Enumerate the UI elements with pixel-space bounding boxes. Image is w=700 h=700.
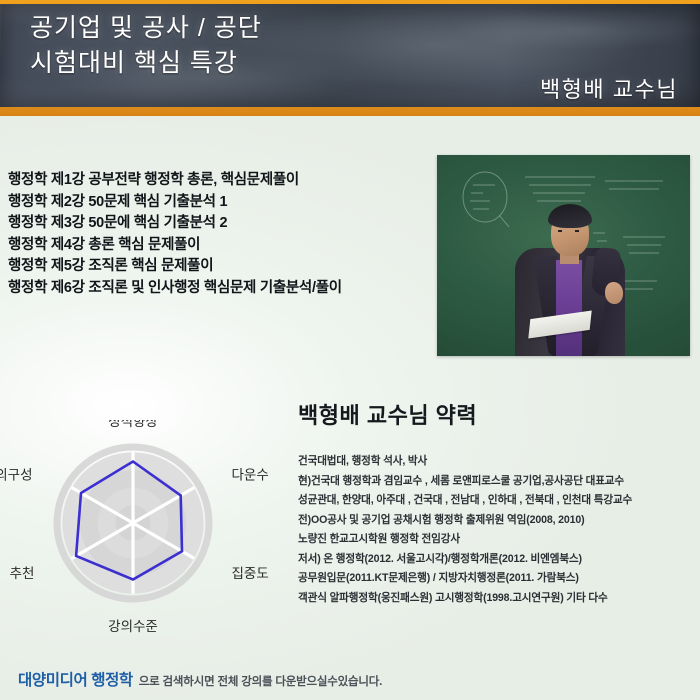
bio-line: 공무원입문(2011.KT문제은행) / 지방자치행정론(2011. 가람북스) [298,569,692,589]
list-item: 행정학 제5강 조직론 핵심 문제풀이 [8,256,438,278]
bio-line: 건국대법대, 행정학 석사, 박사 [298,452,692,472]
list-item: 행정학 제6강 조직론 및 인사행정 핵심문제 기출분석/풀이 [8,278,438,300]
footer-text: 으로 검색하시면 전체 강의를 다운받으실수있습니다. [139,673,382,689]
radar-axis-label: 다운수 [232,467,269,482]
bio-line: 전)OO공사 및 공기업 공채시험 행정학 출제위원 역임(2008, 2010… [298,511,692,531]
video-vignette [437,155,690,356]
lecture-rating-radar-chart: 성적향상다운수집중도강의수준추천강의구성 [0,420,290,660]
brand-name: 대양미디어 행정학 [18,668,133,690]
radar-axis-label: 강의수준 [108,619,158,634]
radar-axis-label: 강의구성 [0,467,32,482]
radar-axis-label: 추천 [10,566,35,581]
slide-header: 공기업 및 공사 / 공단 시험대비 핵심 특강 백형배 교수님 [0,0,700,116]
footer-search-hint: 대양미디어 행정학 으로 검색하시면 전체 강의를 다운받으실수있습니다. [18,668,382,690]
radar-chart-svg: 성적향상다운수집중도강의수준추천강의구성 [0,420,290,660]
bio-title: 백형배 교수님 약력 [298,398,692,430]
chalkboard-header-panel: 공기업 및 공사 / 공단 시험대비 핵심 특강 백형배 교수님 [0,4,700,107]
slide-canvas: 공기업 및 공사 / 공단 시험대비 핵심 특강 백형배 교수님 행정학 제1강… [0,0,700,700]
page-title: 공기업 및 공사 / 공단 시험대비 핵심 특강 [30,11,262,81]
professor-bio-panel: 백형배 교수님 약력 건국대법대, 행정학 석사, 박사 현)건국대 행정학과 … [298,398,692,608]
radar-axis-label: 성적향상 [108,420,158,429]
bio-line: 노량진 한교고시학원 행정학 전임강사 [298,530,692,550]
list-item: 행정학 제1강 공부전략 행정학 총론, 핵심문제풀이 [8,170,438,192]
list-item: 행정학 제4강 총론 핵심 문제풀이 [8,235,438,257]
list-item: 행정학 제2강 50문제 핵심 기출분석 1 [8,192,438,214]
professor-name-header: 백형배 교수님 [540,72,678,104]
lecture-video-thumbnail [437,155,690,356]
list-item: 행정학 제3강 50문에 핵심 기출분석 2 [8,213,438,235]
bio-line: 저서) 온 행정학(2012. 서울고시각)/행정학개론(2012. 비엔엠북스… [298,550,692,570]
bio-line: 성균관대, 한양대, 아주대 , 건국대 , 전남대 , 인하대 , 전북대 ,… [298,491,692,511]
bio-line: 객관식 알파행정학(웅진패스원) 고시행정학(1998.고시연구원) 기타 다수 [298,589,692,609]
bio-line: 현)건국대 행정학과 겸임교수 , 세롬 로앤피로스쿨 공기업,공사공단 대표교… [298,472,692,492]
lecture-list: 행정학 제1강 공부전략 행정학 총론, 핵심문제풀이 행정학 제2강 50문제… [8,170,438,300]
radar-axis-label: 집중도 [232,566,269,581]
